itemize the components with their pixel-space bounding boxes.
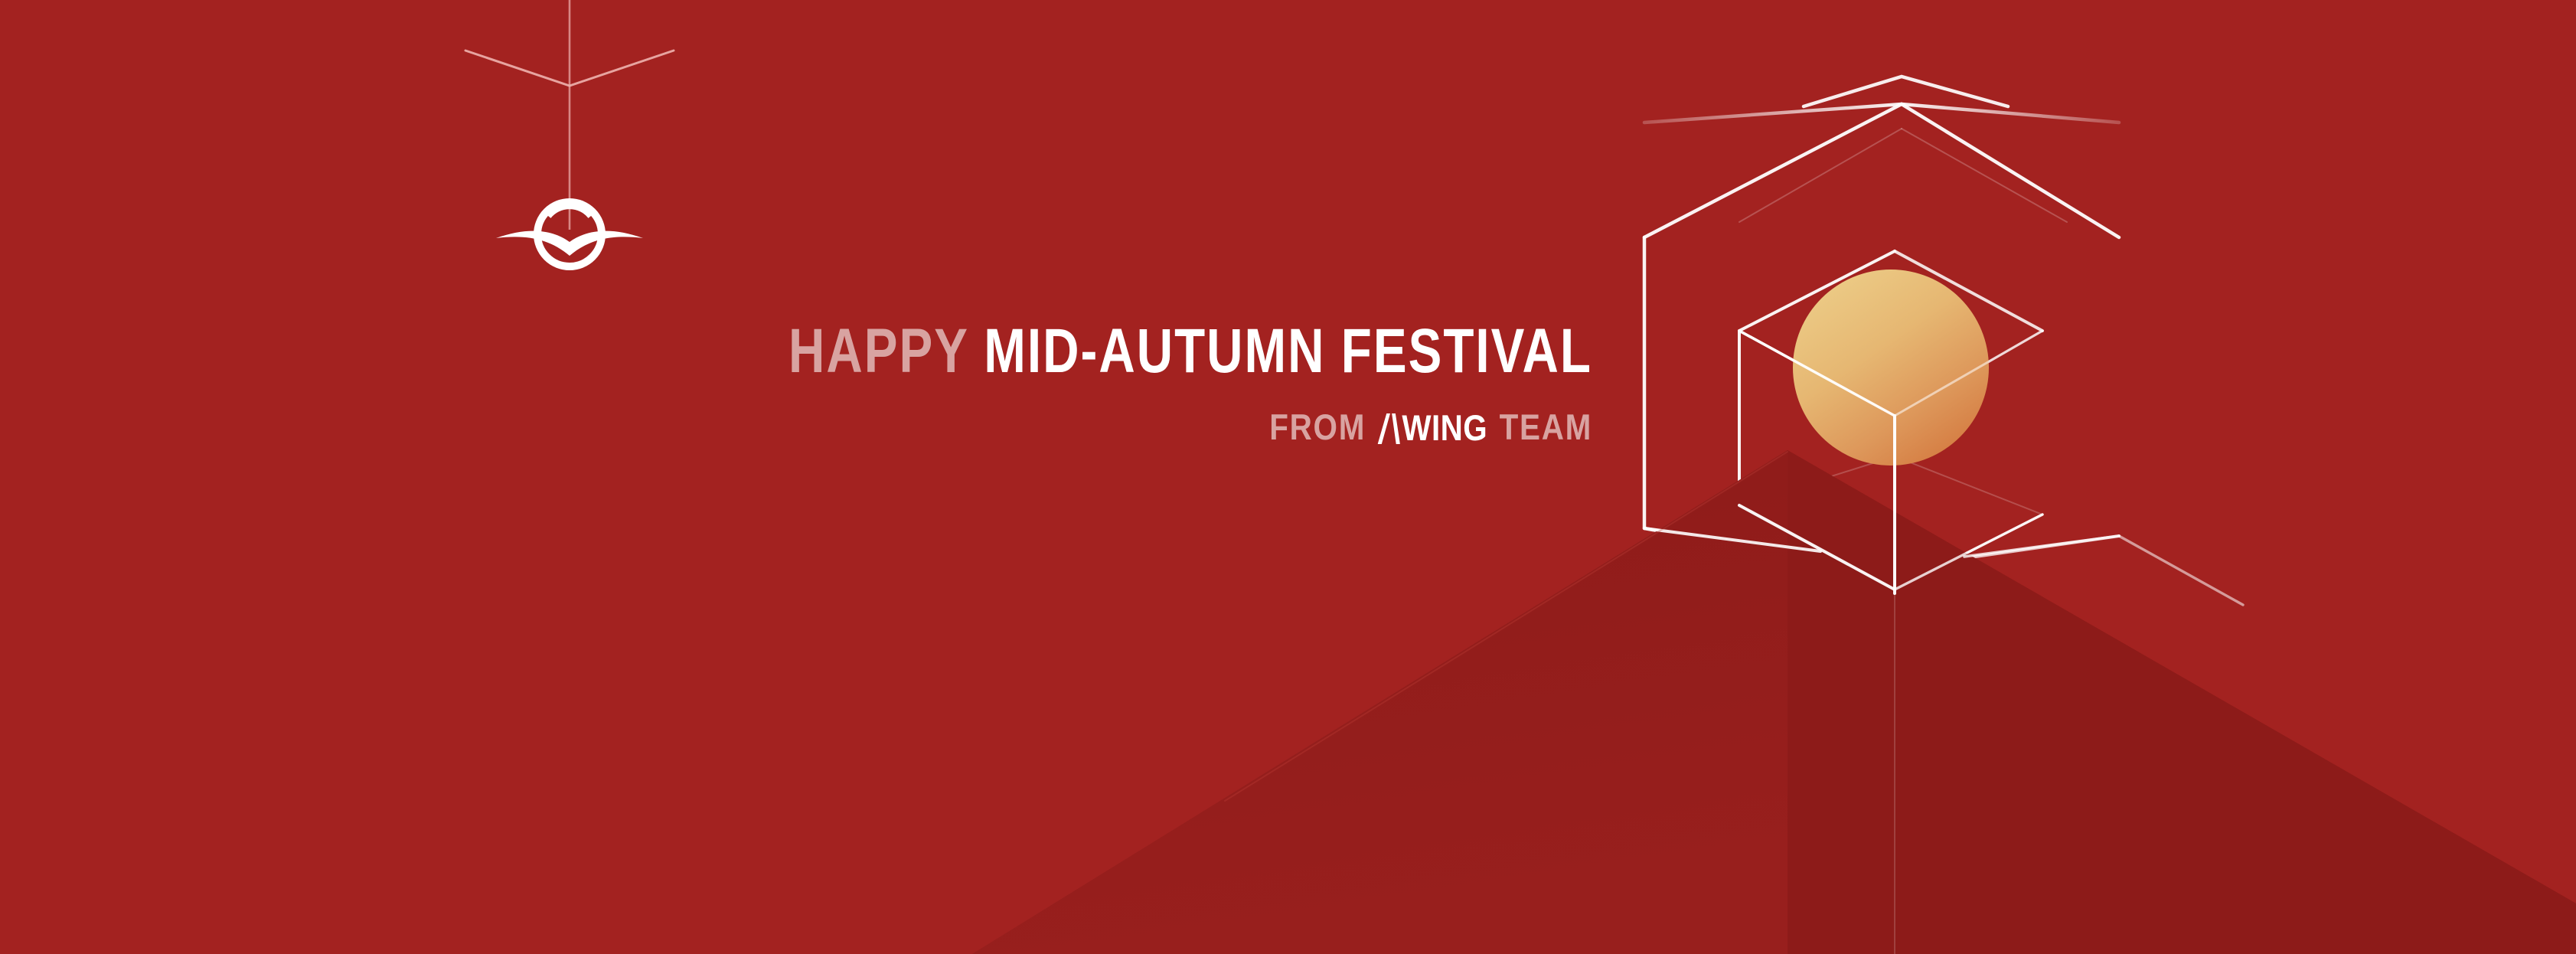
awing-brand-lockup: WING [1378, 410, 1488, 446]
full-moon [1793, 270, 1989, 466]
greeting-text-block: HAPPYMID-AUTUMN FESTIVAL FROMWINGTEAM [0, 320, 1592, 445]
headline-word-main: MID-AUTUMN FESTIVAL [984, 316, 1592, 386]
headline-word-happy: HAPPY [788, 316, 969, 386]
awing-brand-word: WING [1402, 407, 1487, 448]
subline: FROMWINGTEAM [223, 409, 1592, 445]
subline-word-team: TEAM [1500, 407, 1592, 447]
mid-autumn-festival-banner: HAPPYMID-AUTUMN FESTIVAL FROMWINGTEAM [0, 0, 2576, 954]
awing-a-mark-icon [1378, 413, 1400, 444]
headline: HAPPYMID-AUTUMN FESTIVAL [318, 320, 1592, 383]
scene-illustration [0, 0, 2576, 954]
subline-word-from: FROM [1269, 407, 1366, 447]
